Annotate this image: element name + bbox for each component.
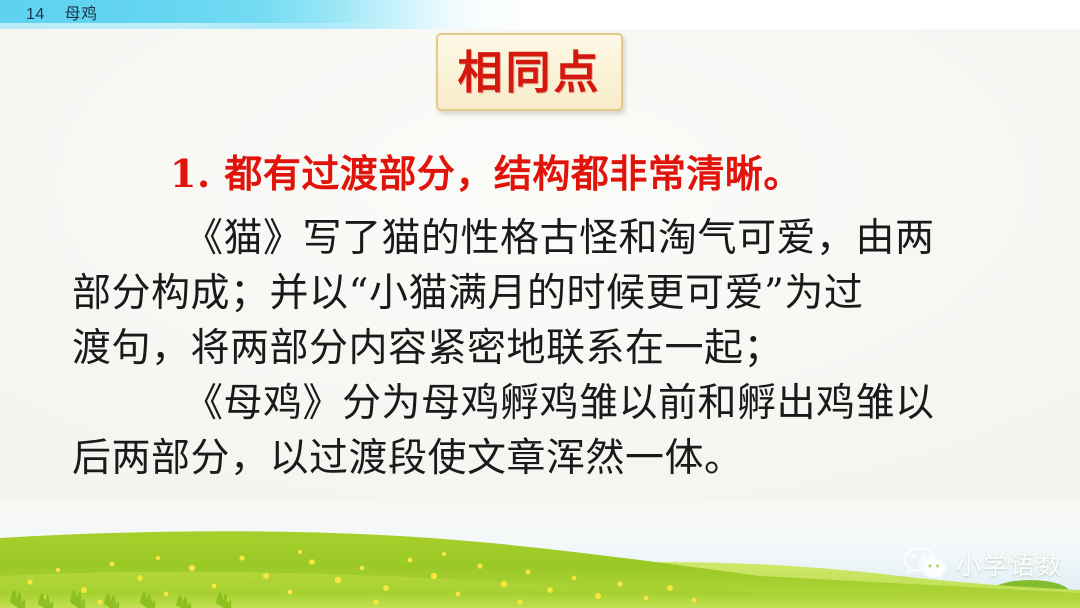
section-title-plaque: 相同点 <box>436 33 623 111</box>
watermark: 小学语数 <box>903 546 1064 582</box>
paragraph-cat-line-3: 渡句，将两部分内容紧密地联系在一起； <box>62 321 1012 376</box>
paragraph-hen: 《母鸡》分为母鸡孵鸡雏以前和孵出鸡雏以 后两部分，以过渡段使文章浑然一体。 <box>62 376 1012 486</box>
watermark-text: 小学语数 <box>956 546 1064 582</box>
paragraph-cat: 《猫》写了猫的性格古怪和淘气可爱，由两 部分构成；并以“小猫满月的时候更可爱”为… <box>62 211 1012 376</box>
lesson-header-title: 14 母鸡 <box>26 0 98 29</box>
wechat-bubble-svg <box>903 546 947 582</box>
paragraph-cat-line-1: 《猫》写了猫的性格古怪和淘气可爱，由两 <box>62 211 1012 266</box>
wechat-bubble-icon <box>903 546 947 582</box>
point-heading-1: 1. 都有过渡部分，结构都非常清晰。 <box>62 146 1012 201</box>
paragraph-hen-line-1: 《母鸡》分为母鸡孵鸡雏以前和孵出鸡雏以 <box>62 376 1012 431</box>
paragraph-spacer <box>62 201 1012 211</box>
slide-body: 1. 都有过渡部分，结构都非常清晰。 《猫》写了猫的性格古怪和淘气可爱，由两 部… <box>62 146 1012 486</box>
lesson-header-bar <box>0 0 1080 29</box>
section-title-inner: 相同点 <box>438 35 621 109</box>
paragraph-cat-line-2: 部分构成；并以“小猫满月的时候更可爱”为过 <box>62 266 1012 321</box>
paragraph-hen-line-2: 后两部分，以过渡段使文章浑然一体。 <box>62 431 1012 486</box>
section-title-text: 相同点 <box>457 50 601 95</box>
slide-canvas: 14 母鸡 相同点 1. 都有过渡部分，结构都非常清晰。 《猫》写了猫的性格古怪… <box>0 0 1080 608</box>
